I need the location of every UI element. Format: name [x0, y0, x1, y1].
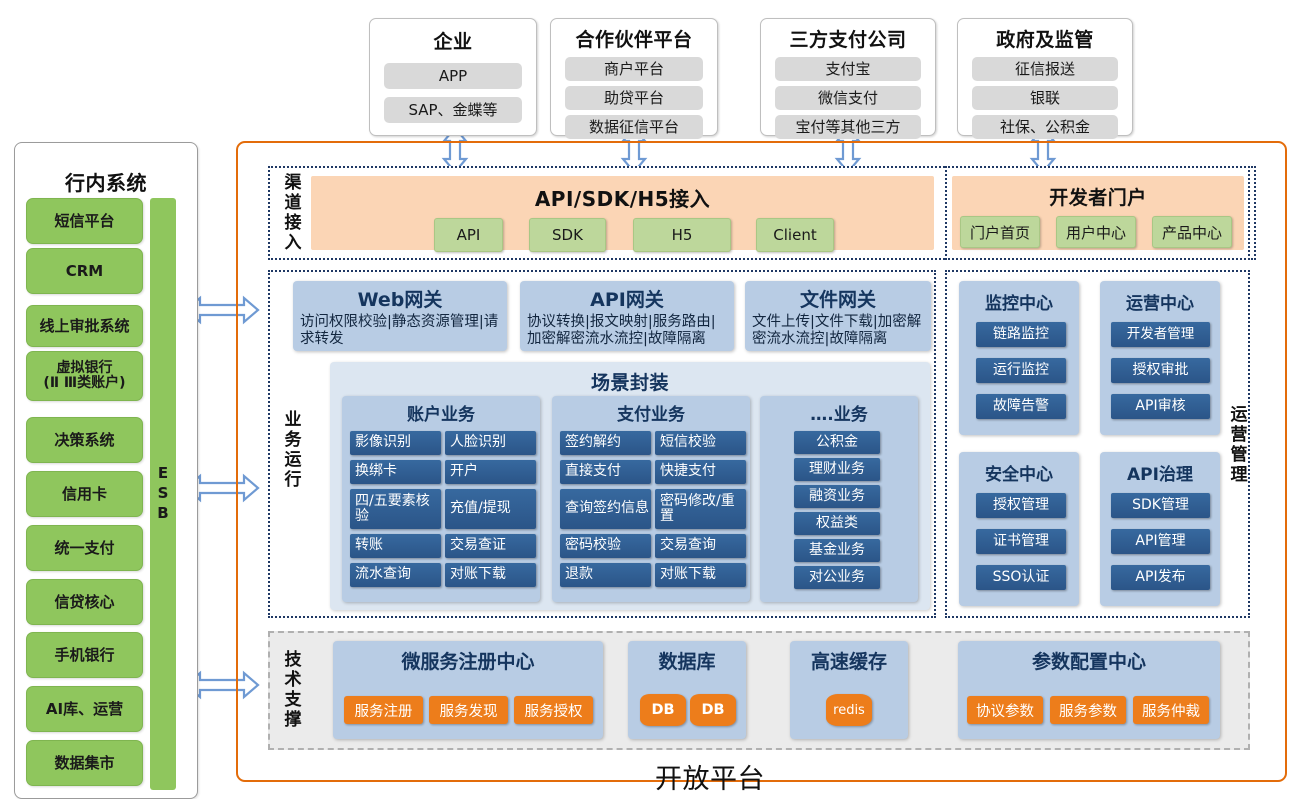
scenario-item[interactable]: 基金业务	[794, 539, 880, 562]
scenario-item[interactable]: 签约解约	[560, 431, 651, 455]
ops-panel-monitoring: 监控中心 链路监控 运行监控 故障告警	[959, 281, 1079, 435]
ops-item[interactable]: 运行监控	[976, 358, 1066, 383]
external-party-item[interactable]: 银联	[972, 86, 1118, 110]
scenario-item[interactable]: 融资业务	[794, 485, 880, 508]
scenario-item[interactable]: 换绑卡	[350, 460, 441, 484]
tech-panel-title: 高速缓存	[790, 647, 908, 674]
esb-label: ESB	[154, 464, 172, 524]
ops-panel-title: 监控中心	[959, 289, 1079, 314]
channel-access-label: 渠道接入	[279, 173, 304, 253]
ops-panel-api-governance: API治理 SDK管理 API管理 API发布	[1100, 452, 1220, 606]
internal-system-item[interactable]: 线上审批系统	[26, 305, 143, 347]
ops-item[interactable]: SDK管理	[1111, 493, 1210, 518]
gateway-desc: 协议转换|报文映射|服务路由|加密解密流水流控|故障隔离	[520, 314, 734, 348]
external-party-card: 政府及监管 征信报送 银联 社保、公积金	[957, 18, 1133, 136]
internal-system-item[interactable]: 决策系统	[26, 417, 143, 463]
portal-chip-user-center[interactable]: 用户中心	[1056, 216, 1136, 248]
scenario-item[interactable]: 快捷支付	[655, 460, 746, 484]
external-party-card: 企业 APP SAP、金蝶等	[369, 18, 537, 136]
tech-item[interactable]: 协议参数	[967, 696, 1043, 724]
db-cylinder-icon[interactable]: DB	[690, 694, 736, 726]
external-party-card: 合作伙伴平台 商户平台 助贷平台 数据征信平台	[550, 18, 718, 136]
db-cylinder-icon[interactable]: DB	[640, 694, 686, 726]
external-party-item[interactable]: APP	[384, 63, 522, 89]
internal-system-item[interactable]: AI库、运营	[26, 686, 143, 732]
ops-item[interactable]: SSO认证	[976, 565, 1066, 590]
tech-panel-config-center: 参数配置中心 协议参数 服务参数 服务仲裁	[958, 641, 1220, 739]
tech-item[interactable]: 服务发现	[429, 696, 508, 724]
tech-panel-title: 微服务注册中心	[333, 647, 603, 674]
ops-panel-security: 安全中心 授权管理 证书管理 SSO认证	[959, 452, 1079, 606]
developer-portal-title: 开发者门户	[952, 183, 1244, 210]
external-party-item[interactable]: 征信报送	[972, 57, 1118, 81]
ops-panel-title: 安全中心	[959, 460, 1079, 485]
ops-item[interactable]: API管理	[1111, 529, 1210, 554]
gateway-desc: 文件上传|文件下载|加密解密流水流控|故障隔离	[745, 314, 931, 348]
scenario-item[interactable]: 对公业务	[794, 566, 880, 589]
ops-panel-title: API治理	[1100, 460, 1220, 485]
portal-chip-home[interactable]: 门户首页	[960, 216, 1040, 248]
scenario-item[interactable]: 查询签约信息	[560, 489, 651, 529]
gateway-title: Web网关	[293, 285, 507, 312]
scenario-item[interactable]: 短信校验	[655, 431, 746, 455]
portal-chip-product-center[interactable]: 产品中心	[1152, 216, 1232, 248]
scenario-item[interactable]: 转账	[350, 534, 441, 558]
gateway-card-web[interactable]: Web网关 访问权限校验|静态资源管理|请求转发	[293, 281, 507, 351]
scenario-encapsulation-title: 场景封装	[330, 368, 930, 395]
scenario-item[interactable]: 直接支付	[560, 460, 651, 484]
external-party-item[interactable]: 商户平台	[565, 57, 703, 81]
internal-system-item[interactable]: CRM	[26, 248, 143, 294]
scenario-group-title: 账户业务	[342, 400, 540, 425]
redis-cylinder-icon[interactable]: redis	[826, 694, 872, 726]
tech-item[interactable]: 服务注册	[344, 696, 423, 724]
external-party-item[interactable]: 助贷平台	[565, 86, 703, 110]
scenario-group-account: 账户业务 影像识别 人脸识别 换绑卡 开户 四/五要素核验 充值/提现 转账 交…	[342, 396, 540, 602]
channel-access-side-label: 渠道接入	[276, 172, 306, 254]
scenario-item[interactable]: 四/五要素核验	[350, 489, 441, 529]
esb-bar[interactable]: ESB	[150, 198, 176, 790]
external-party-item[interactable]: 支付宝	[775, 57, 921, 81]
scenario-item[interactable]: 对账下载	[445, 563, 536, 587]
tech-panel-title: 参数配置中心	[958, 647, 1220, 674]
ops-item[interactable]: 开发者管理	[1111, 322, 1210, 347]
external-party-title: 政府及监管	[958, 25, 1132, 52]
scenario-group-title: ….业务	[760, 400, 918, 425]
gateway-desc: 访问权限校验|静态资源管理|请求转发	[293, 314, 507, 348]
external-party-item[interactable]: 数据征信平台	[565, 115, 703, 139]
developer-portal-block: 开发者门户 门户首页 用户中心 产品中心	[952, 176, 1244, 250]
gateway-card-api[interactable]: API网关 协议转换|报文映射|服务路由|加密解密流水流控|故障隔离	[520, 281, 734, 351]
external-party-title: 三方支付公司	[761, 25, 935, 52]
channel-chip-h5[interactable]: H5	[633, 218, 731, 252]
api-access-title: API/SDK/H5接入	[311, 183, 934, 212]
scenario-group-other: ….业务 公积金 理财业务 融资业务 权益类 基金业务 对公业务	[760, 396, 918, 602]
internal-system-item[interactable]: 信贷核心	[26, 579, 143, 625]
operations-management-label: 运营管理	[1225, 405, 1250, 485]
business-runtime-label: 业务运行	[279, 410, 304, 490]
scenario-item[interactable]: 退款	[560, 563, 651, 587]
external-party-card: 三方支付公司 支付宝 微信支付 宝付等其他三方	[760, 18, 936, 136]
tech-item[interactable]: 服务仲裁	[1133, 696, 1209, 724]
external-party-item[interactable]: 宝付等其他三方	[775, 115, 921, 139]
tech-panel-title: 数据库	[628, 647, 746, 674]
ops-item[interactable]: 授权审批	[1111, 358, 1210, 383]
scenario-group-payment: 支付业务 签约解约 短信校验 直接支付 快捷支付 查询签约信息 密码修改/重置 …	[552, 396, 750, 602]
open-platform-title: 开放平台	[560, 757, 860, 796]
ops-item[interactable]: API发布	[1111, 565, 1210, 590]
internal-system-item[interactable]: 统一支付	[26, 525, 143, 571]
scenario-group-title: 支付业务	[552, 400, 750, 425]
scenario-item[interactable]: 对账下载	[655, 563, 746, 587]
tech-panel-microservice-registry: 微服务注册中心 服务注册 服务发现 服务授权	[333, 641, 603, 739]
channel-chip-api[interactable]: API	[434, 218, 503, 252]
external-party-item[interactable]: 微信支付	[775, 86, 921, 110]
scenario-item[interactable]: 公积金	[794, 431, 880, 454]
gateway-title: 文件网关	[745, 285, 931, 312]
internal-systems-list: 短信平台 CRM 线上审批系统 虚拟银行 (Ⅱ Ⅲ类账户) 决策系统 信用卡 统…	[26, 198, 146, 790]
scenario-item[interactable]: 流水查询	[350, 563, 441, 587]
scenario-item[interactable]: 交易查询	[655, 534, 746, 558]
scenario-item[interactable]: 密码校验	[560, 534, 651, 558]
external-party-title: 合作伙伴平台	[551, 25, 717, 52]
scenario-item[interactable]: 开户	[445, 460, 536, 484]
ops-item[interactable]: 链路监控	[976, 322, 1066, 347]
operations-management-side-label: 运营管理	[1222, 390, 1252, 500]
gateway-title: API网关	[520, 285, 734, 312]
tech-item[interactable]: 服务参数	[1050, 696, 1126, 724]
scenario-item[interactable]: 密码修改/重置	[655, 489, 746, 529]
internal-system-item[interactable]: 信用卡	[26, 471, 143, 517]
channel-chip-sdk[interactable]: SDK	[529, 218, 606, 252]
internal-system-item[interactable]: 虚拟银行 (Ⅱ Ⅲ类账户)	[26, 351, 143, 401]
api-sdk-h5-access-block: API/SDK/H5接入 API SDK H5 Client	[311, 176, 934, 250]
internal-system-item[interactable]: 手机银行	[26, 632, 143, 678]
external-party-title: 企业	[370, 27, 536, 54]
gateway-card-file[interactable]: 文件网关 文件上传|文件下载|加密解密流水流控|故障隔离	[745, 281, 931, 351]
tech-panel-database: 数据库 DB DB	[628, 641, 746, 739]
scenario-item[interactable]: 交易查证	[445, 534, 536, 558]
business-runtime-side-label: 业务运行	[276, 395, 306, 505]
tech-support-label: 技术支撑	[279, 650, 304, 730]
tech-support-side-label: 技术支撑	[276, 640, 306, 740]
scenario-item[interactable]: 人脸识别	[445, 431, 536, 455]
ops-item[interactable]: API审核	[1111, 394, 1210, 419]
ops-panel-title: 运营中心	[1100, 289, 1220, 314]
scenario-item[interactable]: 权益类	[794, 512, 880, 535]
ops-item[interactable]: 授权管理	[976, 493, 1066, 518]
external-party-item[interactable]: SAP、金蝶等	[384, 97, 522, 123]
scenario-item[interactable]: 影像识别	[350, 431, 441, 455]
external-party-item[interactable]: 社保、公积金	[972, 115, 1118, 139]
internal-system-item[interactable]: 短信平台	[26, 198, 143, 244]
tech-panel-cache: 高速缓存 redis	[790, 641, 908, 739]
ops-panel-operations: 运营中心 开发者管理 授权审批 API审核	[1100, 281, 1220, 435]
scenario-item[interactable]: 理财业务	[794, 458, 880, 481]
ops-item[interactable]: 证书管理	[976, 529, 1066, 554]
internal-system-item[interactable]: 数据集市	[26, 740, 143, 786]
internal-systems-title: 行内系统	[18, 167, 194, 196]
scenario-item[interactable]: 充值/提现	[445, 489, 536, 529]
tech-item[interactable]: 服务授权	[514, 696, 593, 724]
channel-chip-client[interactable]: Client	[756, 218, 834, 252]
ops-item[interactable]: 故障告警	[976, 394, 1066, 419]
